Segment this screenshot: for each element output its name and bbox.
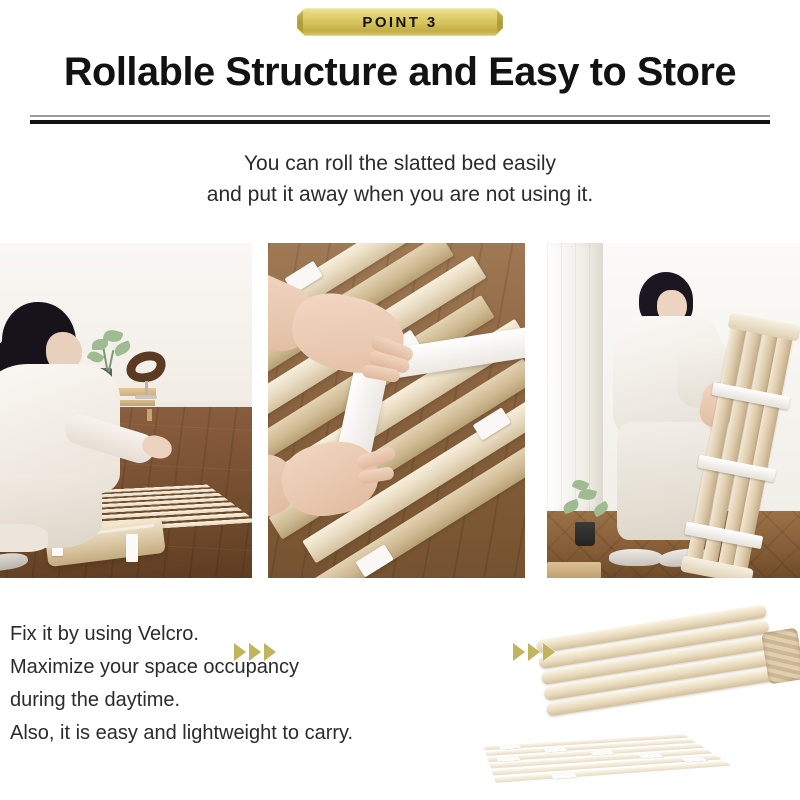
- unrolled-section: [484, 734, 736, 786]
- step-3-photo: [547, 243, 800, 578]
- arrow-right-icon: [528, 643, 540, 661]
- title-divider: [30, 115, 770, 124]
- infographic-page: POINT 3 Rollable Structure and Easy to S…: [0, 0, 800, 800]
- point-badge: POINT 3: [297, 8, 503, 36]
- step-photo-row: [0, 243, 800, 578]
- plant-pot: [575, 522, 595, 546]
- rolled-section: [536, 604, 778, 723]
- subtitle-line-2: and put it away when you are not using i…: [0, 179, 800, 210]
- sculpture-post: [145, 381, 148, 396]
- knee: [0, 524, 48, 552]
- curtain: [547, 243, 603, 511]
- step-2-photo: [268, 243, 525, 578]
- step-arrow-1: [234, 643, 276, 661]
- step-1-photo: [0, 243, 252, 578]
- plant-leaf: [562, 499, 581, 514]
- subtitle: You can roll the slatted bed easily and …: [0, 148, 800, 210]
- arrow-right-icon: [234, 643, 246, 661]
- page-title: Rollable Structure and Easy to Store: [4, 50, 796, 95]
- description-line-4: Also, it is easy and lightweight to carr…: [10, 717, 480, 750]
- arrow-right-icon: [513, 643, 525, 661]
- badge-row: POINT 3: [0, 6, 800, 38]
- sculpture-base: [135, 395, 157, 399]
- roll-end-grain: [761, 628, 800, 685]
- divider-thick-line: [30, 120, 770, 124]
- velcro-tab: [496, 756, 520, 761]
- arrow-right-icon: [543, 643, 555, 661]
- subtitle-line-1: You can roll the slatted bed easily: [0, 148, 800, 179]
- slipper: [609, 549, 663, 566]
- wood-bench: [547, 562, 601, 578]
- velcro-tab: [681, 757, 708, 762]
- description-text: Fix it by using Velcro. Maximize your sp…: [10, 618, 480, 750]
- product-photo: [495, 606, 795, 792]
- point-badge-label: POINT 3: [362, 14, 437, 31]
- hand-upper: [268, 279, 422, 395]
- description-line-3: during the daytime.: [10, 684, 480, 717]
- arrow-right-icon: [249, 643, 261, 661]
- person-kneeling: [0, 302, 136, 564]
- velcro-tab: [551, 773, 578, 779]
- shelf-leg-right: [147, 409, 152, 421]
- velcro-tab: [638, 753, 664, 758]
- step-arrow-2: [513, 643, 555, 661]
- hand-lower: [268, 429, 413, 549]
- arrow-right-icon: [264, 643, 276, 661]
